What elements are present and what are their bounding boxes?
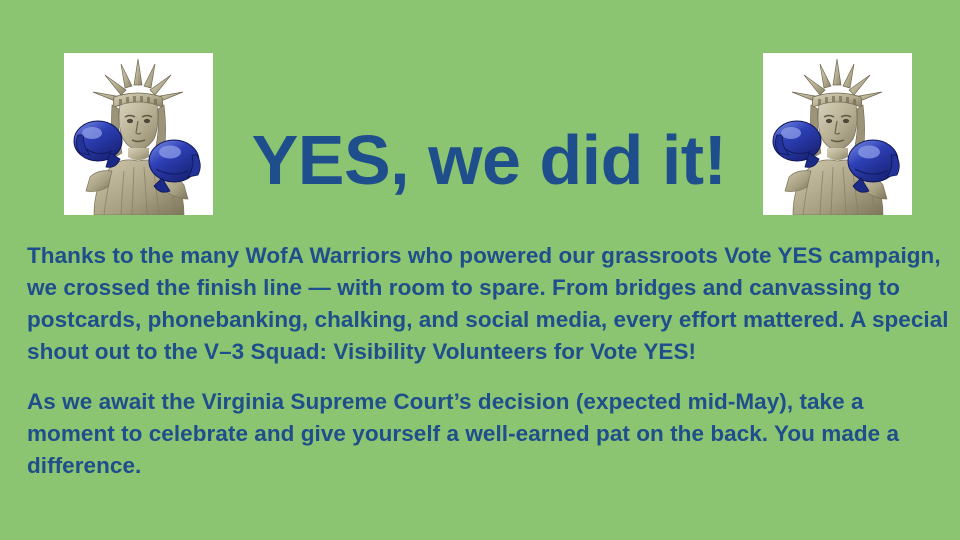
slide-canvas: YES, we did it! Thanks to the many WofA … — [0, 0, 960, 540]
paragraph-1: Thanks to the many WofA Warriors who pow… — [27, 240, 949, 368]
statue-image-right — [763, 53, 912, 215]
title-row: YES, we did it! — [215, 118, 763, 204]
body-copy: Thanks to the many WofA Warriors who pow… — [27, 240, 949, 482]
title-rest: we did it! — [409, 121, 726, 199]
statue-of-liberty-boxing-icon — [763, 53, 912, 215]
paragraph-2: As we await the Virginia Supreme Court’s… — [27, 386, 949, 482]
statue-of-liberty-boxing-icon — [64, 53, 213, 215]
title-lead: YES, — [252, 121, 410, 199]
statue-image-left — [64, 53, 213, 215]
page-title: YES, we did it! — [252, 124, 727, 198]
